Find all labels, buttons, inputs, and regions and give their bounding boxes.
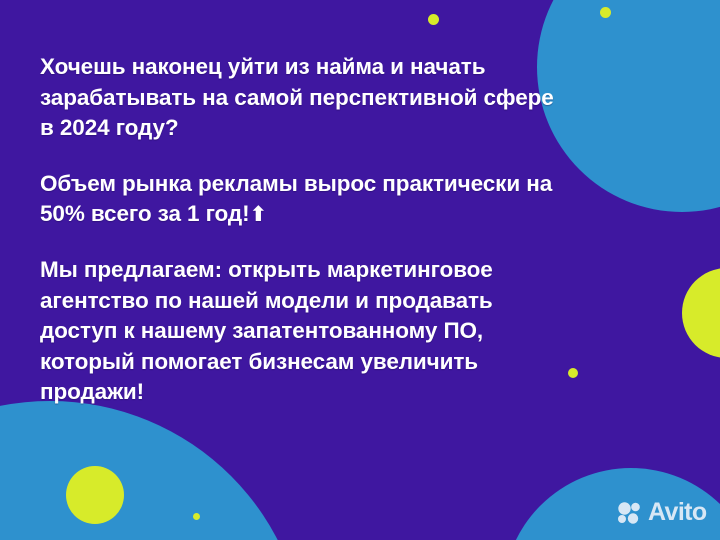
promo-paragraph-2: Объем рынка рекламы вырос практически на… xyxy=(40,169,555,230)
avito-wordmark: Avito xyxy=(648,500,707,525)
lime-dot-bottom xyxy=(193,513,200,520)
lime-circle-right xyxy=(682,268,720,358)
lime-dot-middle-right xyxy=(568,368,578,378)
avito-dots-icon xyxy=(617,502,643,524)
lime-dot-top-left xyxy=(428,14,439,25)
blue-circle-bottom-left xyxy=(0,401,306,540)
lime-circle-in-blue xyxy=(66,466,124,524)
avito-watermark: Avito xyxy=(617,500,707,525)
promo-paragraph-1: Хочешь наконец уйти из найма и начать за… xyxy=(40,52,555,144)
lime-dot-top-right xyxy=(600,7,611,18)
arrow-up-icon: ⬆ xyxy=(249,203,267,226)
promo-copy-block: Хочешь наконец уйти из найма и начать за… xyxy=(40,52,555,408)
promo-paragraph-3: Мы предлагаем: открыть маркетинговое аге… xyxy=(40,255,555,408)
blue-circle-top-right xyxy=(537,0,720,212)
promo-slide: Хочешь наконец уйти из найма и начать за… xyxy=(0,0,720,540)
promo-paragraph-2-text: Объем рынка рекламы вырос практически на… xyxy=(40,171,552,227)
